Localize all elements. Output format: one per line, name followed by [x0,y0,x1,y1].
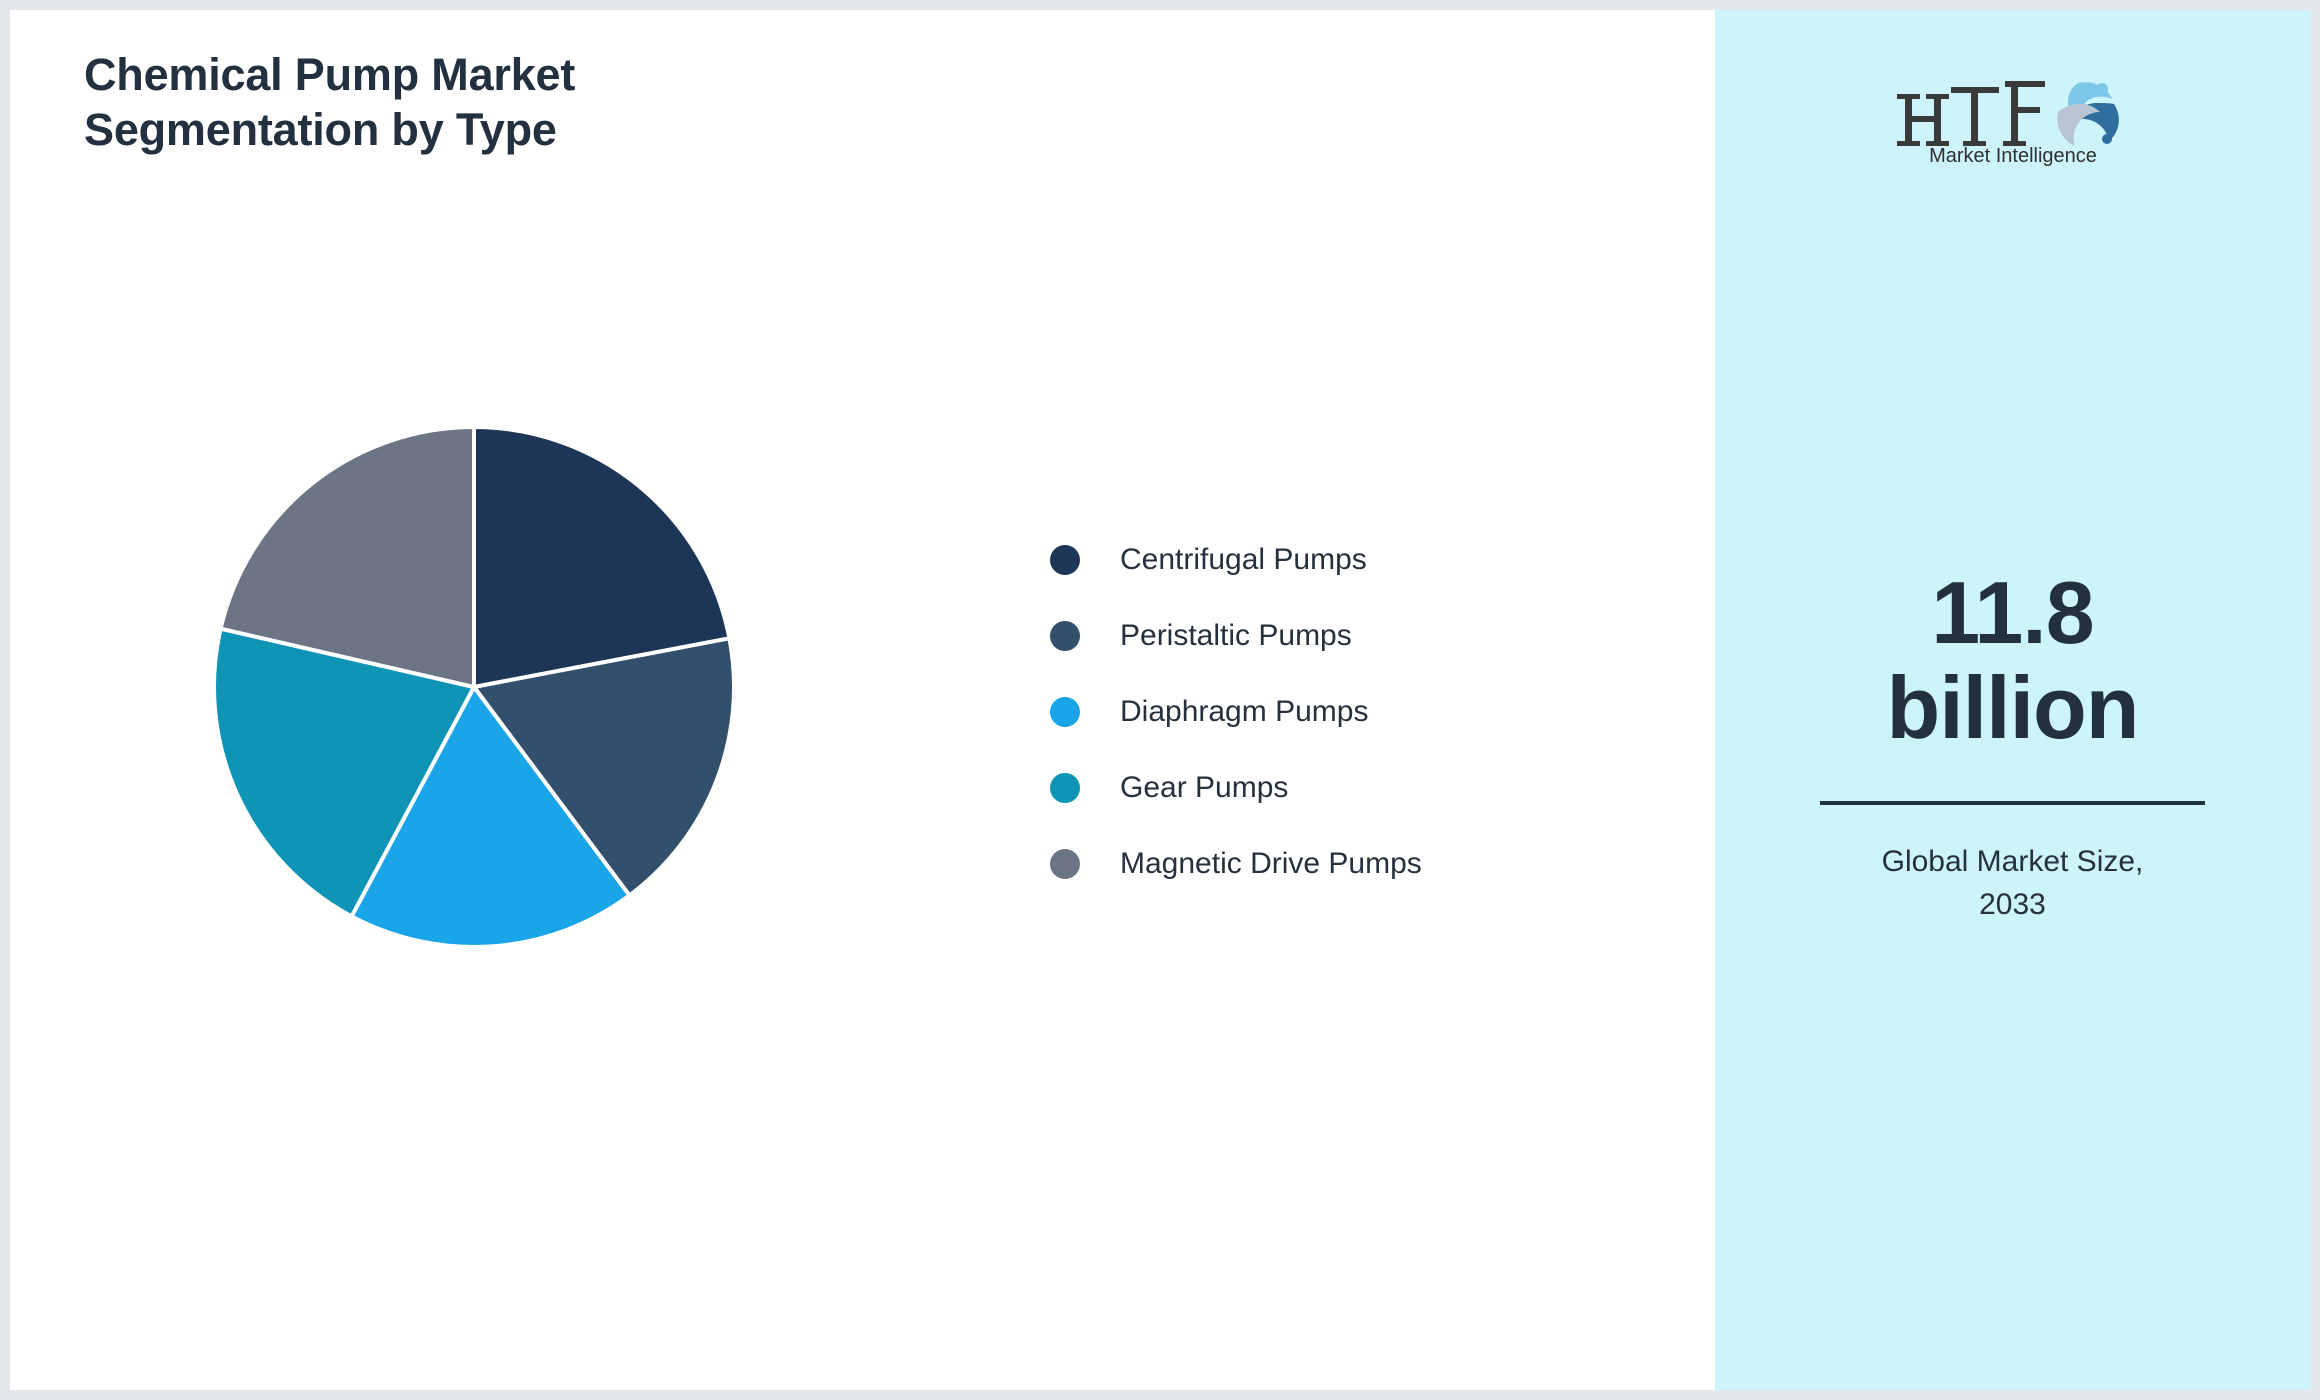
pie-chart-svg: Centrifugal Pumps: 22%Peristaltic Pumps:… [214,427,734,947]
htf-wordmark-icon [1897,81,2045,146]
page-title: Chemical Pump Market Segmentation by Typ… [84,48,984,158]
chart-legend: Centrifugal PumpsPeristaltic PumpsDiaphr… [1050,522,1422,902]
legend-item-label: Gear Pumps [1120,771,1288,805]
chart-panel: Chemical Pump Market Segmentation by Typ… [10,10,1715,1390]
legend-item-label: Diaphragm Pumps [1120,695,1368,729]
market-size-caption: Global Market Size, 2033 [1783,841,2243,926]
brand-logo: Market Intelligence [1715,62,2310,168]
htf-market-intelligence-logo-icon: Market Intelligence [1883,63,2143,167]
legend-item-label: Centrifugal Pumps [1120,543,1367,577]
legend-swatch-icon [1050,773,1080,803]
legend-item[interactable]: Diaphragm Pumps [1050,674,1422,750]
legend-item-label: Magnetic Drive Pumps [1120,847,1422,881]
stat-panel: Market Intelligence 11.8 billion Global … [1715,10,2310,1390]
legend-swatch-icon [1050,545,1080,575]
legend-item[interactable]: Magnetic Drive Pumps [1050,826,1422,902]
legend-item[interactable]: Centrifugal Pumps [1050,522,1422,598]
legend-swatch-icon [1050,849,1080,879]
legend-item[interactable]: Peristaltic Pumps [1050,598,1422,674]
pie-slice-group: Centrifugal Pumps: 22%Peristaltic Pumps:… [214,427,734,947]
market-size-value: 11.8 billion [1783,565,2243,755]
legend-item[interactable]: Gear Pumps [1050,750,1422,826]
infographic-card: Chemical Pump Market Segmentation by Typ… [10,10,2310,1390]
stat-divider [1820,801,2205,805]
pie-chart: Centrifugal Pumps: 22%Peristaltic Pumps:… [214,427,734,947]
legend-swatch-icon [1050,697,1080,727]
dolphin-emblem-icon [2057,82,2119,146]
stat-block: 11.8 billion Global Market Size, 2033 [1783,565,2243,926]
legend-item-label: Peristaltic Pumps [1120,619,1352,653]
legend-swatch-icon [1050,621,1080,651]
brand-tagline: Market Intelligence [1929,145,2097,167]
